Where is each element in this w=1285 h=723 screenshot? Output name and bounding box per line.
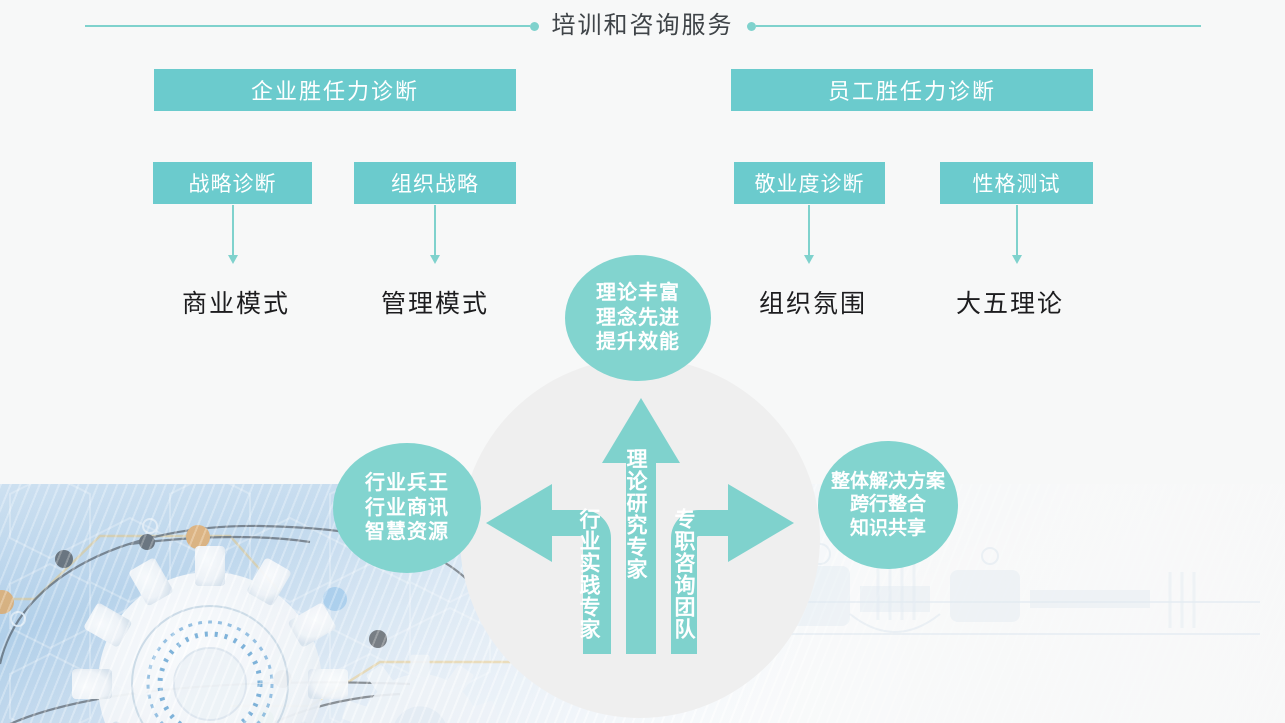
sub-box-strategy-diagnosis-label: 战略诊断 — [189, 168, 277, 198]
sub-box-organization-strategy[interactable]: 组织战略 — [354, 162, 516, 204]
connector-stem — [232, 205, 234, 257]
hub-circle-top-line-3: 提升效能 — [596, 330, 680, 354]
sub-box-organization-strategy-label: 组织战略 — [391, 168, 479, 198]
connector-arrowhead — [1012, 255, 1022, 264]
hub-circle-left-line-1: 行业兵王 — [365, 471, 449, 495]
hub-circle-right-line-3: 知识共享 — [850, 517, 926, 540]
leaf-label-business-model: 商业模式 — [136, 284, 336, 320]
sub-box-engagement-diagnosis-label: 敬业度诊断 — [755, 168, 865, 198]
arrow-down-icon-engagement — [802, 205, 816, 269]
hub-circle-right-line-1: 整体解决方案 — [831, 470, 945, 493]
connector-arrowhead — [228, 255, 238, 264]
arrow-down-icon-personality — [1010, 205, 1024, 269]
hub-circle-right[interactable]: 整体解决方案 跨行整合 知识共享 — [818, 441, 958, 569]
hub-circle-top-line-2: 理念先进 — [596, 306, 680, 330]
header-box-employee-label: 员工胜任力诊断 — [828, 74, 996, 106]
header-box-employee[interactable]: 员工胜任力诊断 — [731, 69, 1093, 111]
sub-box-personality-test-label: 性格测试 — [973, 168, 1061, 198]
title-rule-left — [85, 25, 530, 27]
connector-stem — [434, 205, 436, 257]
page-title: 培训和咨询服务 — [539, 14, 747, 38]
leaf-label-organizational-climate: 组织氛围 — [713, 284, 913, 320]
title-dot-left — [530, 22, 539, 31]
header-box-enterprise[interactable]: 企业胜任力诊断 — [154, 69, 516, 111]
sub-box-strategy-diagnosis[interactable]: 战略诊断 — [153, 162, 312, 204]
leaf-label-management-model: 管理模式 — [335, 284, 535, 320]
page-title-row: 培训和咨询服务 — [0, 6, 1285, 46]
leaf-label-big-five-theory: 大五理论 — [910, 284, 1110, 320]
connector-stem — [808, 205, 810, 257]
connector-arrowhead — [430, 255, 440, 264]
hub-circle-left-line-3: 智慧资源 — [365, 520, 449, 544]
hub-circle-top[interactable]: 理论丰富 理念先进 提升效能 — [565, 255, 711, 381]
title-rule-right — [756, 25, 1201, 27]
arrow-label-industry-practice-expert: 行业实践专家 — [578, 508, 599, 640]
hub-circle-left[interactable]: 行业兵王 行业商讯 智慧资源 — [333, 443, 481, 573]
hub-circle-left-line-2: 行业商讯 — [365, 496, 449, 520]
header-box-enterprise-label: 企业胜任力诊断 — [251, 74, 419, 106]
hub-circle-right-line-2: 跨行整合 — [850, 493, 926, 516]
title-dot-right — [747, 22, 756, 31]
arrow-label-consulting-team: 专职咨询团队 — [673, 508, 694, 640]
arrow-label-theory-research-expert: 理论研究专家 — [625, 448, 646, 580]
arrow-down-icon-strategy — [226, 205, 240, 269]
connector-arrowhead — [804, 255, 814, 264]
sub-box-personality-test[interactable]: 性格测试 — [940, 162, 1093, 204]
connector-stem — [1016, 205, 1018, 257]
hub-circle-top-line-1: 理论丰富 — [596, 281, 680, 305]
slide-canvas: 培训和咨询服务 企业胜任力诊断 员工胜任力诊断 战略诊断 组织战略 敬业度诊断 … — [0, 0, 1285, 723]
arrow-down-icon-organization — [428, 205, 442, 269]
sub-box-engagement-diagnosis[interactable]: 敬业度诊断 — [734, 162, 885, 204]
